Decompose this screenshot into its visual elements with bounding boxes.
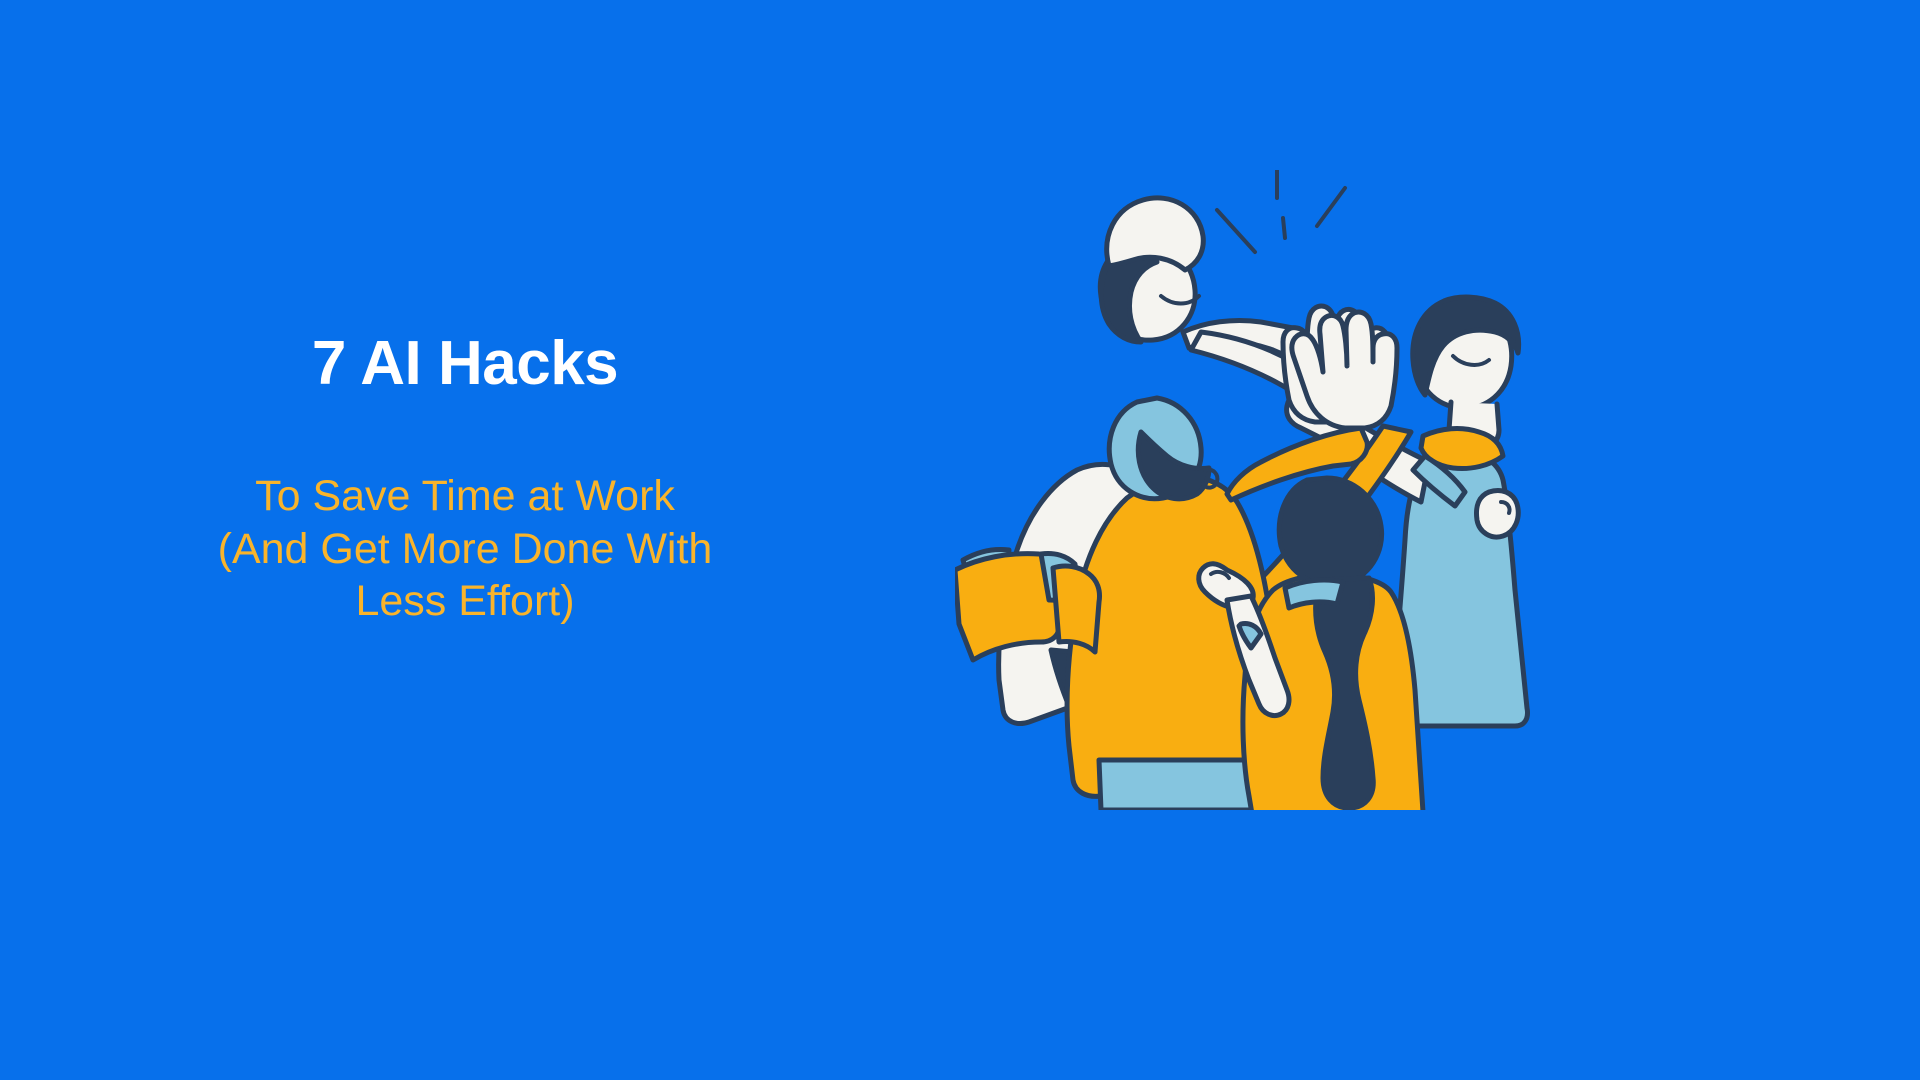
high-five-impact-lines-icon	[1217, 170, 1345, 252]
subtitle: To Save Time at Work (And Get More Done …	[0, 470, 930, 627]
subtitle-line-1: To Save Time at Work	[0, 470, 930, 522]
subtitle-line-2: (And Get More Done With	[0, 523, 930, 575]
prop-yellow-folder	[955, 549, 1100, 660]
slide-canvas: 7 AI Hacks To Save Time at Work (And Get…	[0, 0, 1920, 1080]
page-title: 7 AI Hacks	[0, 330, 930, 398]
team-high-five-illustration	[955, 170, 1655, 810]
illustration-svg	[955, 170, 1655, 810]
text-block: 7 AI Hacks To Save Time at Work (And Get…	[0, 330, 930, 628]
high-five-hands-icon	[1283, 306, 1397, 428]
subtitle-line-3: Less Effort)	[0, 575, 930, 627]
